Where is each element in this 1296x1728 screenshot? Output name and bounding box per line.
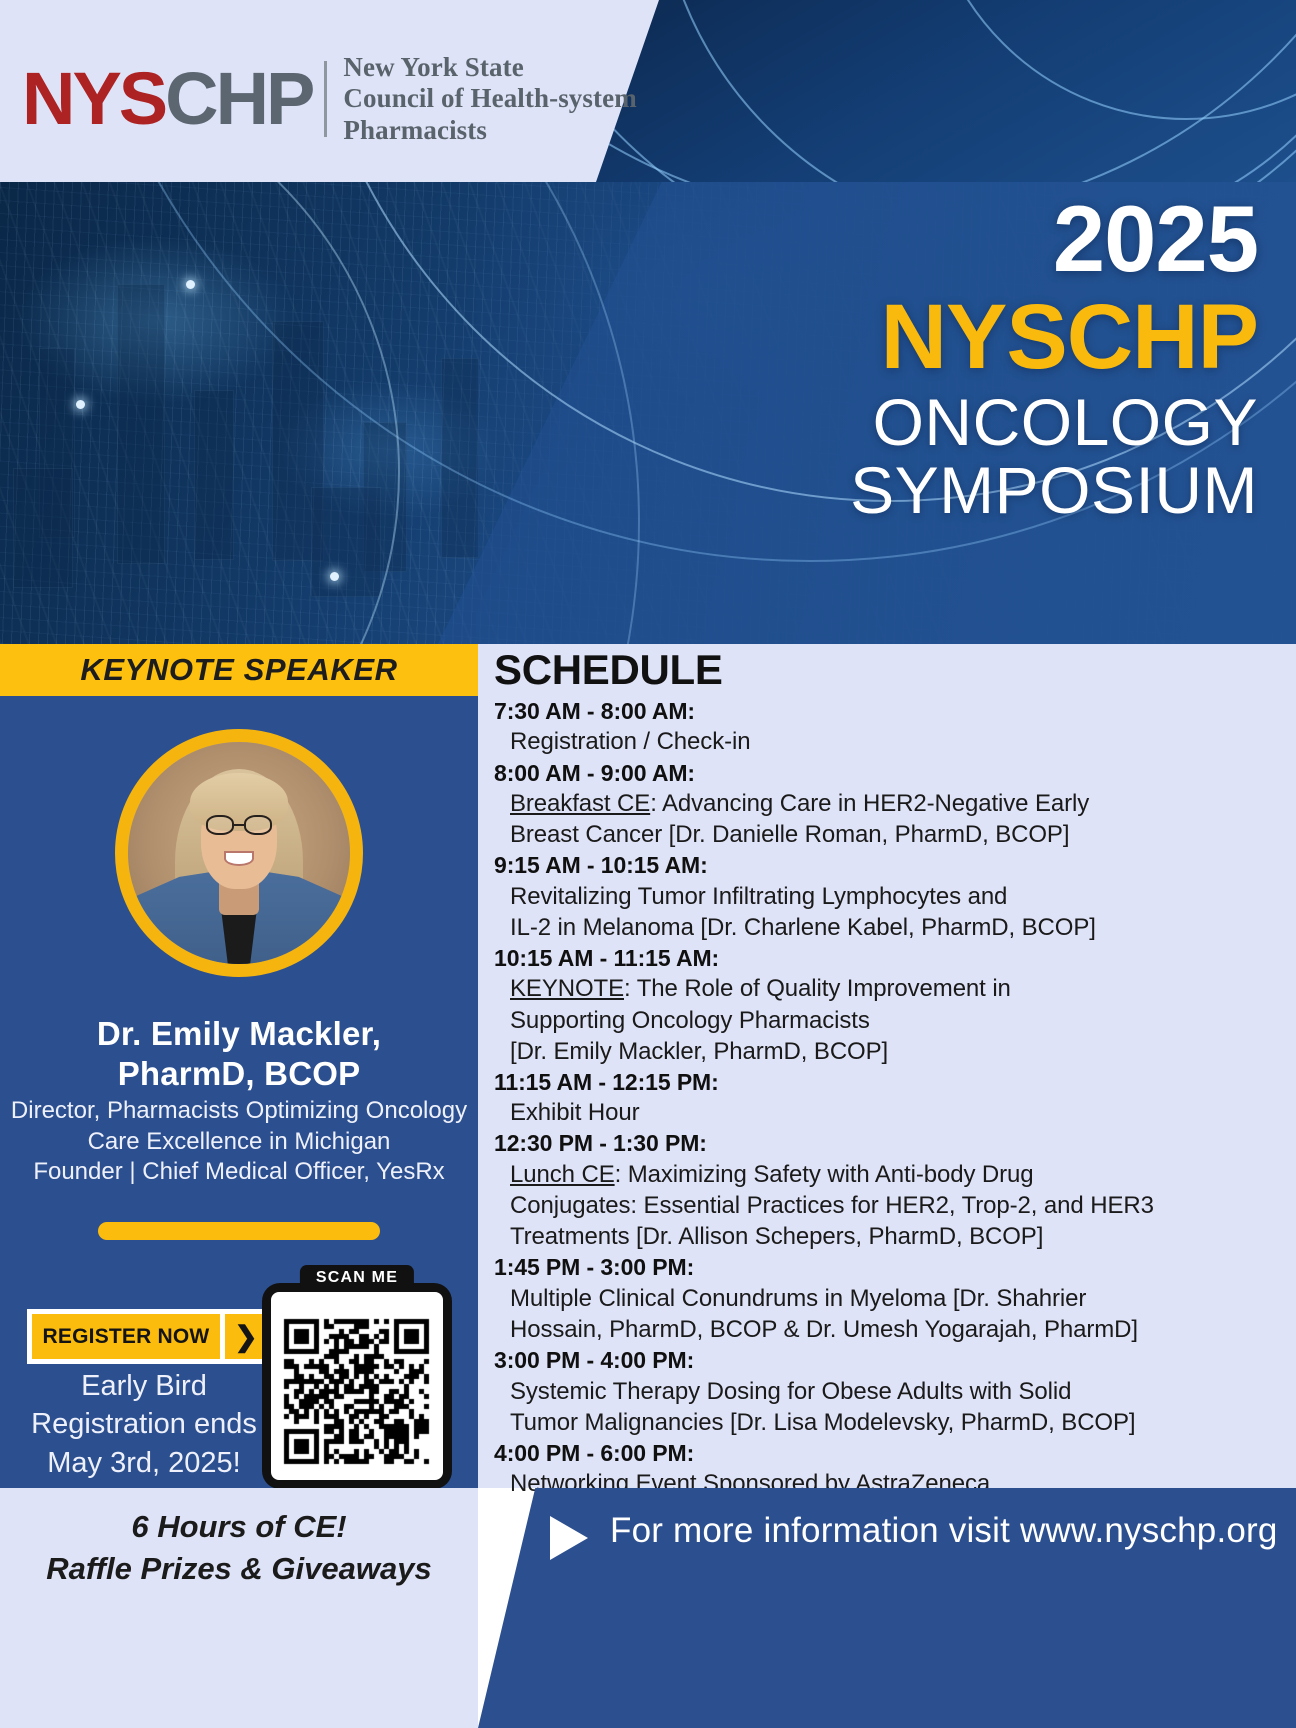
event-title-block: 2025 NYSCHP ONCOLOGY SYMPOSIUM	[498, 192, 1258, 525]
logo-fullname-line1: New York State	[343, 52, 636, 83]
schedule-heading: SCHEDULE	[494, 646, 723, 694]
register-now-label: REGISTER NOW	[32, 1314, 220, 1359]
schedule-session-tag: Lunch CE	[510, 1161, 615, 1188]
early-bird-line3: May 3rd, 2025!	[0, 1444, 288, 1482]
schedule-description: Tumor Malignancies [Dr. Lisa Modelevsky,…	[494, 1407, 1284, 1438]
schedule-description: Registration / Check-in	[494, 726, 1284, 757]
ce-highlight-block: 6 Hours of CE! Raffle Prizes & Giveaways	[0, 1488, 478, 1728]
more-info-text: For more information visit www.nyschp.or…	[610, 1510, 1278, 1552]
schedule-time: 7:30 AM - 8:00 AM:	[494, 696, 1284, 726]
more-info-bar: For more information visit www.nyschp.or…	[478, 1488, 1296, 1728]
event-organization: NYSCHP	[498, 290, 1258, 386]
schedule-time: 4:00 PM - 6:00 PM:	[494, 1438, 1284, 1468]
hero-banner: 2025 NYSCHP ONCOLOGY SYMPOSIUM NYU TISCH…	[0, 182, 1296, 644]
schedule-time: 1:45 PM - 3:00 PM:	[494, 1252, 1284, 1282]
early-bird-line1: Early Bird	[0, 1367, 288, 1405]
speaker-name: Dr. Emily Mackler, PharmD, BCOP	[0, 1014, 478, 1093]
logo-fullname: New York State Council of Health-system …	[343, 52, 636, 146]
schedule-session-tag: Breakfast CE	[510, 790, 650, 817]
speaker-bio: Director, Pharmacists Optimizing Oncolog…	[0, 1096, 478, 1188]
node-dot	[330, 572, 339, 581]
qr-code-block[interactable]: SCAN ME	[262, 1283, 452, 1489]
speaker-bio-line3: Founder | Chief Medical Officer, YesRx	[8, 1157, 470, 1188]
logo-wordmark-chp: CHP	[165, 57, 312, 140]
speaker-portrait-image	[128, 742, 350, 964]
chevron-right-icon: ❯	[225, 1314, 267, 1359]
keynote-band-label: KEYNOTE SPEAKER	[80, 652, 397, 688]
schedule-time: 10:15 AM - 11:15 AM:	[494, 943, 1284, 973]
schedule-time: 12:30 PM - 1:30 PM:	[494, 1128, 1284, 1158]
logo-wordmark-nys: NYS	[22, 57, 165, 140]
schedule-description: Revitalizing Tumor Infiltrating Lymphocy…	[494, 881, 1284, 912]
page-header: NYSCHP New York State Council of Health-…	[0, 0, 1296, 182]
speaker-bio-line2: Care Excellence in Michigan	[8, 1127, 470, 1158]
schedule-description: [Dr. Emily Mackler, PharmD, BCOP]	[494, 1036, 1284, 1067]
logo-fullname-line3: Pharmacists	[343, 115, 636, 146]
speaker-avatar	[115, 729, 363, 977]
schedule-description: Breast Cancer [Dr. Danielle Roman, Pharm…	[494, 819, 1284, 850]
node-dot	[76, 400, 85, 409]
schedule-description: Hossain, PharmD, BCOP & Dr. Umesh Yogara…	[494, 1314, 1284, 1345]
register-now-button[interactable]: REGISTER NOW ❯	[27, 1309, 272, 1364]
logo-wordmark: NYSCHP	[22, 65, 312, 133]
qr-code-image	[271, 1292, 443, 1480]
divider-pill	[98, 1222, 380, 1240]
speaker-bio-line1: Director, Pharmacists Optimizing Oncolog…	[8, 1096, 470, 1127]
nyschp-logo: NYSCHP New York State Council of Health-…	[22, 52, 637, 146]
event-subtitle-line2: SYMPOSIUM	[498, 456, 1258, 525]
event-subtitle-line1: ONCOLOGY	[498, 388, 1258, 457]
node-dot	[186, 280, 195, 289]
schedule-session-tag: KEYNOTE	[510, 975, 624, 1002]
schedule-description: KEYNOTE: The Role of Quality Improvement…	[494, 973, 1284, 1004]
keynote-speaker-band: KEYNOTE SPEAKER	[0, 644, 478, 696]
logo-fullname-line2: Council of Health-system	[343, 83, 636, 114]
schedule-description: Systemic Therapy Dosing for Obese Adults…	[494, 1376, 1284, 1407]
schedule-description: Supporting Oncology Pharmacists	[494, 1005, 1284, 1036]
schedule-description: Multiple Clinical Conundrums in Myeloma …	[494, 1283, 1284, 1314]
ce-hours-label: 6 Hours of CE!	[131, 1506, 346, 1548]
speaker-name-line1: Dr. Emily Mackler,	[16, 1014, 462, 1054]
raffle-label: Raffle Prizes & Giveaways	[46, 1548, 431, 1590]
schedule-panel: SCHEDULE 7:30 AM - 8:00 AM:Registration …	[478, 644, 1296, 1488]
early-bird-notice: Early Bird Registration ends May 3rd, 20…	[0, 1367, 288, 1482]
schedule-description: Breakfast CE: Advancing Care in HER2-Neg…	[494, 788, 1284, 819]
schedule-time: 9:15 AM - 10:15 AM:	[494, 850, 1284, 880]
schedule-description: Conjugates: Essential Practices for HER2…	[494, 1190, 1284, 1221]
schedule-description: IL-2 in Melanoma [Dr. Charlene Kabel, Ph…	[494, 912, 1284, 943]
schedule-time: 8:00 AM - 9:00 AM:	[494, 758, 1284, 788]
schedule-description: Exhibit Hour	[494, 1097, 1284, 1128]
schedule-time: 11:15 AM - 12:15 PM:	[494, 1067, 1284, 1097]
qr-canvas	[278, 1299, 436, 1473]
schedule-time: 3:00 PM - 4:00 PM:	[494, 1345, 1284, 1375]
logo-divider	[324, 61, 327, 137]
speaker-name-line2: PharmD, BCOP	[16, 1054, 462, 1094]
header-decorative-wedge	[596, 0, 1296, 182]
qr-scan-me-label: SCAN ME	[300, 1265, 414, 1291]
arrow-right-icon	[550, 1516, 588, 1560]
schedule-description: Lunch CE: Maximizing Safety with Anti-bo…	[494, 1159, 1284, 1190]
schedule-list: 7:30 AM - 8:00 AM:Registration / Check-i…	[494, 696, 1284, 1499]
early-bird-line2: Registration ends	[0, 1405, 288, 1443]
schedule-description: Treatments [Dr. Allison Schepers, PharmD…	[494, 1221, 1284, 1252]
event-year: 2025	[498, 192, 1258, 286]
